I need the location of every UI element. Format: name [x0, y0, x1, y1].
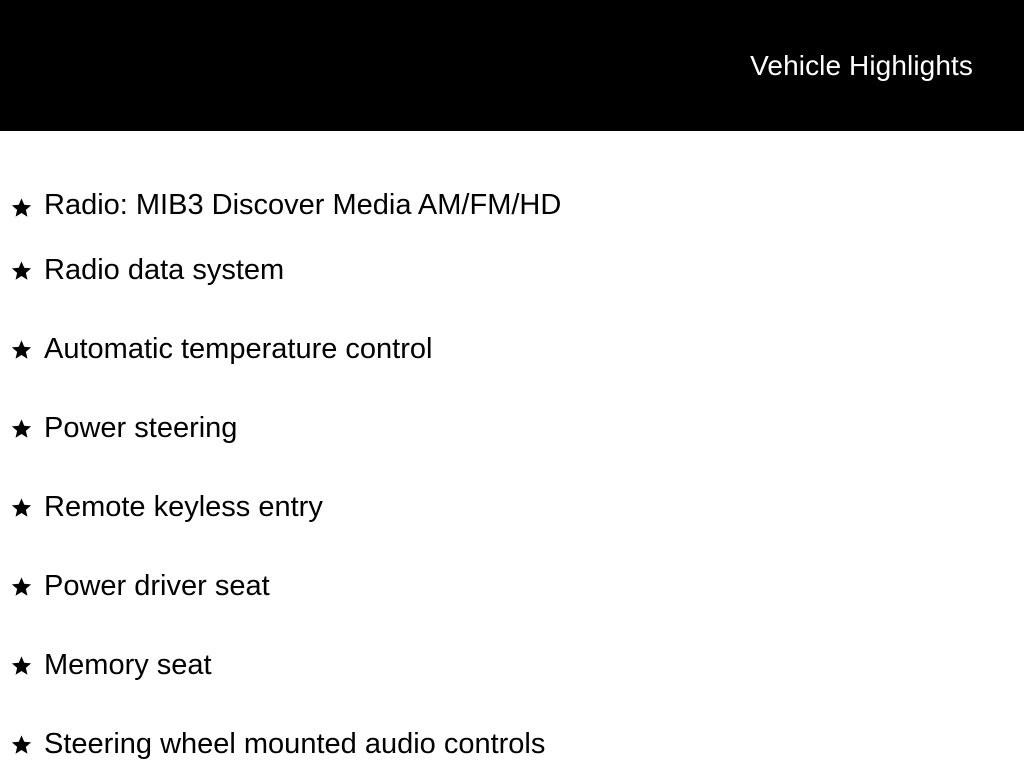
star-icon: [11, 572, 32, 600]
vehicle-highlights-list: Radio: MIB3 Discover Media AM/FM/HD Radi…: [0, 131, 1024, 784]
star-icon: [11, 256, 32, 284]
list-item-label: Automatic temperature control: [44, 333, 432, 366]
page-title: Vehicle Highlights: [750, 49, 973, 83]
list-item: Memory seat: [0, 626, 1024, 705]
star-icon: [11, 651, 32, 679]
header-bar: Vehicle Highlights: [0, 0, 1024, 131]
star-icon: [11, 493, 32, 521]
list-item: Steering wheel mounted audio controls: [0, 705, 1024, 784]
list-item-label: Memory seat: [44, 649, 212, 682]
star-icon: [11, 414, 32, 442]
list-item: Radio data system: [0, 231, 1024, 310]
star-icon: [11, 730, 32, 758]
list-item: Remote keyless entry: [0, 468, 1024, 547]
list-item: Automatic temperature control: [0, 310, 1024, 389]
list-item-label: Radio: MIB3 Discover Media AM/FM/HD: [44, 189, 561, 222]
list-item-label: Power steering: [44, 412, 237, 445]
list-item: Power steering: [0, 389, 1024, 468]
list-item: Power driver seat: [0, 547, 1024, 626]
star-icon: [11, 335, 32, 363]
list-item-label: Steering wheel mounted audio controls: [44, 728, 545, 761]
list-item-label: Remote keyless entry: [44, 491, 323, 524]
list-item-label: Radio data system: [44, 254, 284, 287]
star-icon: [11, 193, 32, 221]
list-item-label: Power driver seat: [44, 570, 270, 603]
list-item: Radio: MIB3 Discover Media AM/FM/HD: [0, 131, 1024, 231]
